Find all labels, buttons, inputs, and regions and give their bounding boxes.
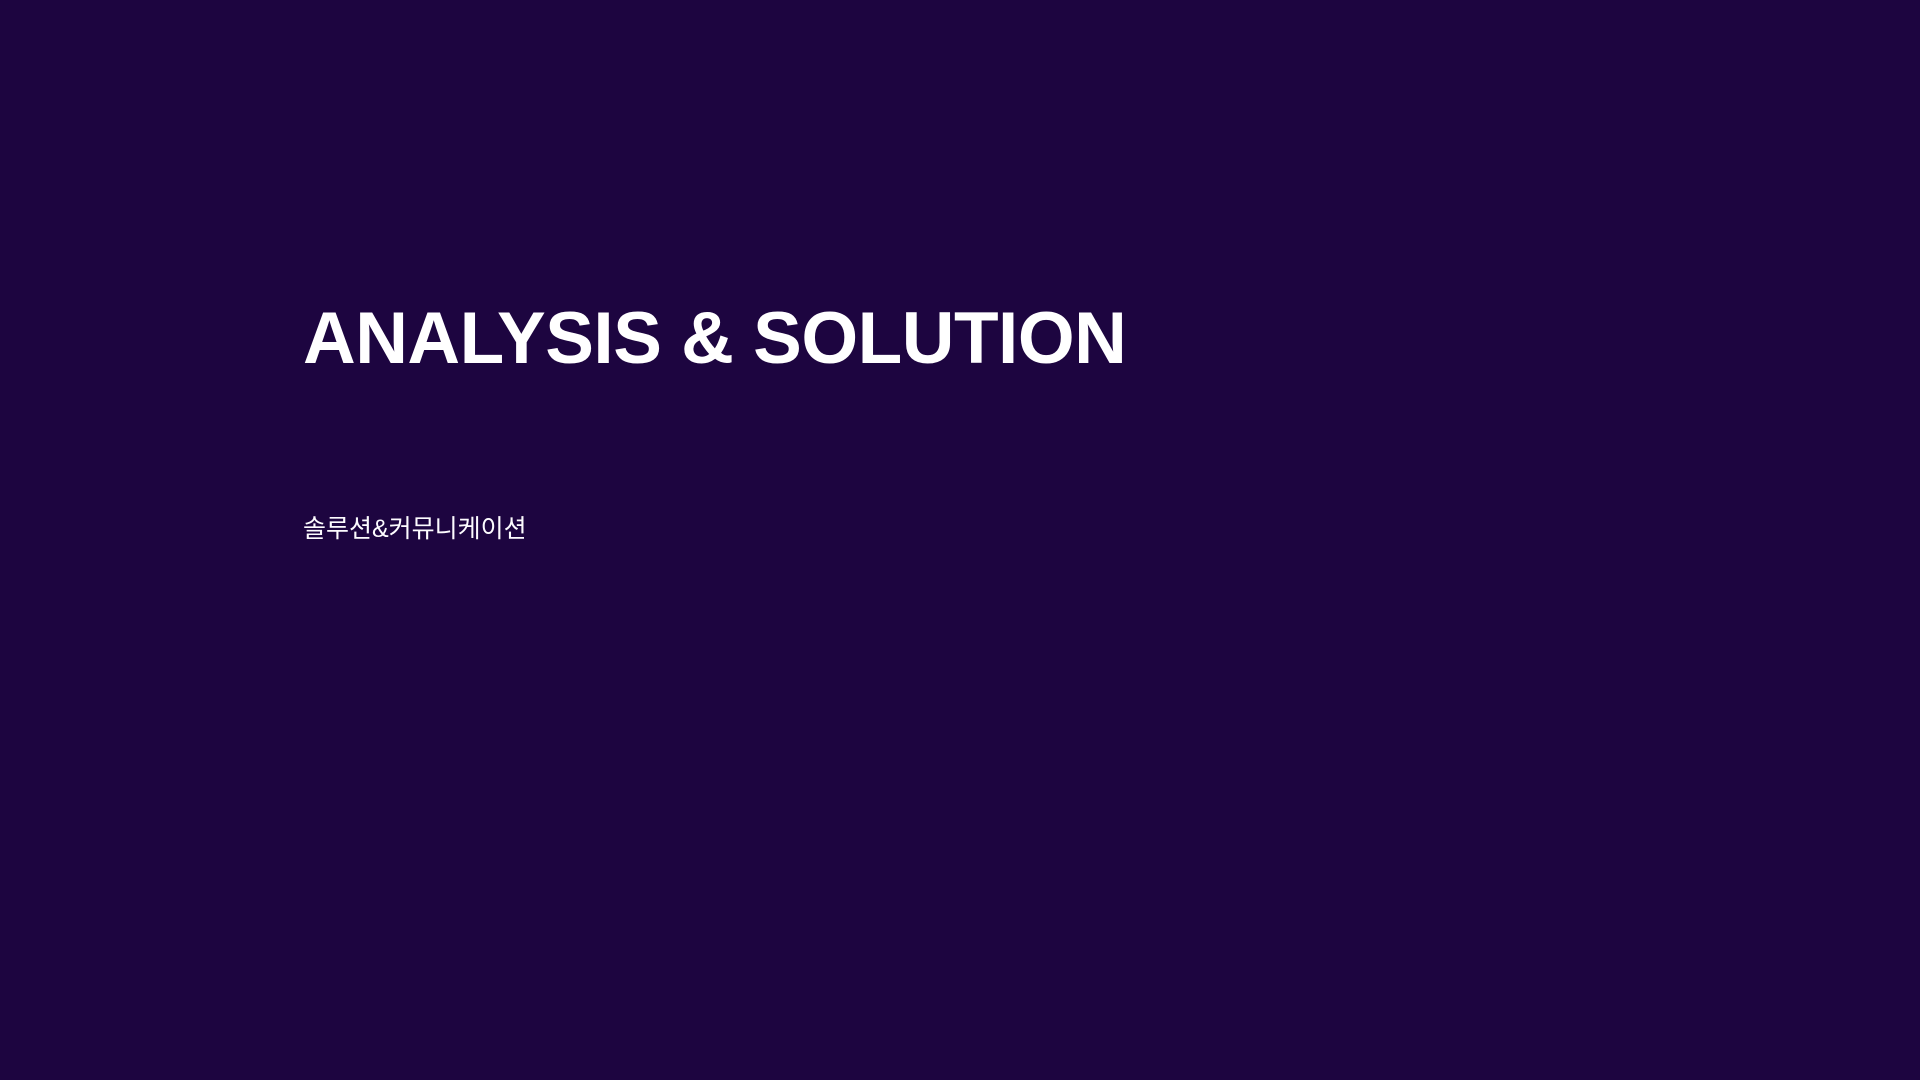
presentation-slide: ANALYSIS & SOLUTION 솔루션&커뮤니케이션 bbox=[0, 0, 1920, 1080]
page-title: ANALYSIS & SOLUTION bbox=[303, 300, 1703, 377]
slide-text-block: ANALYSIS & SOLUTION 솔루션&커뮤니케이션 bbox=[303, 300, 1703, 377]
slide-subtitle: 솔루션&커뮤니케이션 bbox=[303, 513, 527, 546]
